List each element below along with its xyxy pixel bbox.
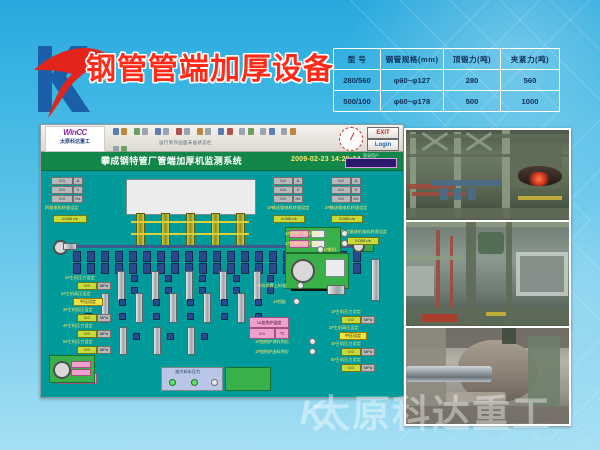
temp-panel-unit: ℃ [275, 328, 289, 339]
param-unit-right: MPa [361, 316, 375, 324]
param-value-right[interactable]: 0.0 [341, 364, 361, 372]
hydraulic-cylinder [169, 293, 177, 323]
right-group-a-caption: 1#输送辊电机转速设定 [267, 205, 309, 210]
param-label: 5#主机压力设定 [63, 339, 93, 344]
redo-icon[interactable] [184, 128, 190, 135]
right-group-b-caption: 2#输送辊电机转速设定 [325, 205, 367, 210]
script-icon[interactable] [269, 128, 275, 135]
user-icon[interactable] [281, 128, 287, 135]
param-unit: MPa [97, 282, 111, 290]
settings-icon[interactable] [290, 128, 296, 135]
hydraulic-cylinder [135, 293, 143, 323]
level-ok-led [211, 379, 218, 386]
supply-pump-led [169, 379, 176, 386]
cell-model: 280/560 [334, 70, 381, 91]
col-header-clamp-force: 夹紧力(吨) [501, 49, 560, 70]
slide-root: 钢管管端加厚设备 型 号 钢管规格(mm) 顶锻力(吨) 夹紧力(吨) 280/… [0, 0, 600, 450]
param-label-right: 4#主机压力设定 [331, 341, 361, 346]
valve-icon [221, 313, 228, 320]
valve-icon [119, 299, 126, 306]
param-label: 3#主机低压设定 [63, 307, 93, 312]
alarm-icon[interactable] [227, 128, 233, 135]
indicator-label: 1#加热炉进料到位 [255, 339, 289, 344]
readout-value: 0.0 [331, 177, 351, 185]
col-header-pipe-size: 钢管规格(mm) [381, 49, 444, 70]
table-row: 500/100 φ60~φ178 500 1000 [334, 91, 560, 112]
readout-unit: A [351, 177, 361, 185]
report-icon[interactable] [248, 128, 254, 135]
pump-impeller-icon [291, 259, 315, 283]
save-icon[interactable] [121, 128, 127, 135]
open-icon[interactable] [113, 128, 119, 135]
cell-clamp-force: 1000 [501, 91, 560, 112]
column [136, 213, 145, 247]
param-value[interactable]: 0.0 [77, 330, 97, 338]
current-user-field[interactable] [345, 158, 397, 168]
readout-value: 0.0 [273, 177, 293, 185]
indicator-label: 1#推料 [323, 247, 336, 252]
hydraulic-cylinder [203, 293, 211, 323]
param-label: 1#主机压力设定 [65, 275, 95, 280]
cooler-unit [225, 367, 271, 391]
temp-panel-value[interactable]: 0.0 [249, 328, 275, 339]
param-value[interactable]: 0.0 [77, 346, 97, 354]
hydraulic-cylinder [117, 271, 125, 301]
valve-icon [233, 275, 240, 282]
indicator-label: 1#加热炉出料到位 [255, 349, 289, 354]
cell-model: 500/100 [334, 91, 381, 112]
photo-workshop [404, 220, 571, 328]
indicator-led [309, 338, 316, 345]
lube-pump-icon [53, 361, 71, 379]
readout-value: 0.0 [51, 186, 73, 194]
indicator-label: 中间位置上料辊 [257, 283, 286, 288]
right-group-b-setpoint[interactable]: 0.000 r/s [331, 215, 363, 223]
hydraulic-cylinder [187, 327, 195, 355]
indicator-led [341, 240, 348, 247]
param-value[interactable]: 0.0 [77, 314, 97, 322]
readout-unit: V [293, 186, 303, 194]
param-label-right: 2#主机高压设定 [329, 325, 359, 330]
cell-upset-force: 280 [444, 70, 501, 91]
process-canvas: 0.0 A 0.0 V 0.0 Hz 四辊电机转速设定 0.000 r/s 0.… [41, 171, 403, 398]
valve-icon [201, 333, 208, 340]
grid-icon[interactable] [205, 128, 211, 135]
photo-content [406, 130, 569, 220]
hydraulic-cylinder [219, 271, 227, 301]
indicator-led [293, 298, 300, 305]
param-label-right: 1#主机压力设定 [331, 309, 361, 314]
param-label: 2#主机高压设定 [61, 291, 91, 296]
param-label-right: 5#主机压力设定 [331, 357, 361, 362]
readout-unit: V [73, 186, 83, 194]
valve-icon [133, 333, 140, 340]
scada-titlebar: 攀成钢特管厂管端加厚机监测系统 2009-02-23 14:29:24 登录用户 [41, 152, 403, 171]
col-header-upset-force: 顶锻力(吨) [444, 49, 501, 70]
drive-shaft [63, 243, 77, 250]
page-title: 钢管管端加厚设备 [86, 52, 334, 88]
indicator-label: 2#加热炉出料到位 [285, 241, 319, 246]
hydraulic-cylinder [153, 327, 161, 355]
temp-panel-label: 1#加热炉温度 [249, 317, 289, 328]
param-unit-right: MPa [361, 364, 375, 372]
print-icon[interactable] [134, 128, 140, 135]
valve-icon [267, 287, 274, 294]
valve-icon [165, 275, 172, 282]
param-value-right[interactable]: 中压设定 [339, 332, 367, 340]
param-unit-right: MPa [361, 348, 375, 356]
param-value[interactable]: 0.0 [77, 282, 97, 290]
valve-icon [119, 313, 126, 320]
table-row: 280/560 φ60~φ127 280 560 [334, 70, 560, 91]
cross-beam [131, 221, 249, 223]
column [211, 213, 220, 247]
cell-upset-force: 500 [444, 91, 501, 112]
readout-unit: Hz [73, 195, 83, 203]
photo-upsetting-machine [404, 128, 571, 222]
param-value-right[interactable]: 0.0 [341, 348, 361, 356]
cell-pipe-size: φ60~φ127 [381, 70, 444, 91]
right-group-a-setpoint[interactable]: 0.000 r/s [273, 215, 305, 223]
furnace-housing [126, 179, 256, 215]
right-group-c-setpoint[interactable]: 0.000 r/s [347, 237, 379, 245]
indicator-led [297, 282, 304, 289]
indicator-led [309, 348, 316, 355]
scada-window: WinCC 太原科达重工 运行到许画面未画状态栏 EXIT Login [40, 124, 404, 398]
hydraulic-cylinder [119, 327, 127, 355]
readout-value: 0.0 [51, 177, 73, 185]
valve-icon [267, 275, 274, 282]
cross-beam [131, 233, 249, 235]
valve-icon [221, 299, 228, 306]
indicator-label: 2#加热炉进料到位 [285, 231, 319, 236]
readout-value: 0.0 [273, 186, 293, 194]
readout-unit: V [351, 186, 361, 194]
indicator-led [341, 230, 348, 237]
zoom-icon[interactable] [197, 128, 203, 135]
valve-icon [153, 313, 160, 320]
readout-value: 0.0 [331, 186, 351, 194]
scada-toolbar: WinCC 太原科达重工 运行到许画面未画状态栏 EXIT Login [41, 125, 403, 152]
readout-value: 0.0 [273, 195, 293, 203]
indicator-label: 1#挡板 [273, 299, 286, 304]
toolbar-subtitle: 运行到许画面未画状态栏 [159, 140, 212, 146]
readout-unit: A [293, 177, 303, 185]
valve-icon [255, 299, 262, 306]
param-value[interactable]: 中压设定 [73, 298, 103, 306]
paste-icon[interactable] [163, 128, 169, 135]
lube-indicator [71, 369, 91, 376]
readout-value: 0.0 [331, 195, 351, 203]
hydraulic-cylinder [185, 271, 193, 301]
readout-value: 0.0 [51, 195, 73, 203]
undo-icon[interactable] [176, 128, 182, 135]
select-icon[interactable] [218, 128, 224, 135]
watermark-text: 太原科达重工 [312, 392, 600, 438]
wincc-logo: WinCC 太原科达重工 [45, 126, 105, 152]
wincc-logo-top: WinCC [46, 127, 104, 138]
param-unit: MPa [97, 346, 111, 354]
trend-icon[interactable] [239, 128, 245, 135]
exit-button[interactable]: EXIT [367, 127, 399, 139]
readout-unit: Hz [351, 195, 361, 203]
circ-pump-led [191, 379, 198, 386]
pump-motor [327, 285, 345, 295]
column [186, 213, 195, 247]
spec-table: 型 号 钢管规格(mm) 顶锻力(吨) 夹紧力(吨) 280/560 φ60~φ… [333, 48, 560, 112]
param-label: 4#主机压力设定 [63, 323, 93, 328]
hydraulic-cylinder [151, 271, 159, 301]
column [161, 213, 170, 247]
photo-content [406, 222, 569, 326]
param-unit: MPa [97, 314, 111, 322]
valve-icon [187, 313, 194, 320]
clock-gauge-icon [339, 127, 363, 151]
tag-icon[interactable] [260, 128, 266, 135]
cell-pipe-size: φ60~φ178 [381, 91, 444, 112]
cell-clamp-force: 560 [501, 70, 560, 91]
pump-panel [325, 259, 345, 277]
hydraulic-cylinder [237, 293, 245, 323]
readout-unit: Hz [293, 195, 303, 203]
copy-icon[interactable] [155, 128, 161, 135]
indicator-led [317, 246, 324, 253]
readout-unit: A [73, 177, 83, 185]
cut-icon[interactable] [142, 128, 148, 135]
wincc-logo-bottom: 太原科达重工 [46, 138, 104, 147]
scada-title-text: 攀成钢特管厂管端加厚机监测系统 [101, 154, 242, 167]
lube-indicator [71, 361, 91, 368]
valve-icon [187, 299, 194, 306]
current-user-box: 登录用户 [345, 153, 397, 168]
param-value-right[interactable]: 0.0 [341, 316, 361, 324]
valve-icon [153, 299, 160, 306]
login-button[interactable]: Login [367, 139, 399, 151]
table-header-row: 型 号 钢管规格(mm) 顶锻力(吨) 夹紧力(吨) [334, 49, 560, 70]
chain-conveyor [371, 259, 380, 301]
left-group-caption: 四辊电机转速设定 [45, 205, 79, 210]
col-header-model: 型 号 [334, 49, 381, 70]
column [236, 213, 245, 247]
toolbar-icon-strip[interactable] [113, 128, 303, 139]
valve-icon [199, 275, 206, 282]
valve-icon [131, 275, 138, 282]
water-tank-label: 油冷却水压力 [175, 369, 200, 374]
param-unit: MPa [97, 330, 111, 338]
left-group-setpoint[interactable]: 0.000 r/s [53, 215, 87, 223]
valve-icon [167, 333, 174, 340]
